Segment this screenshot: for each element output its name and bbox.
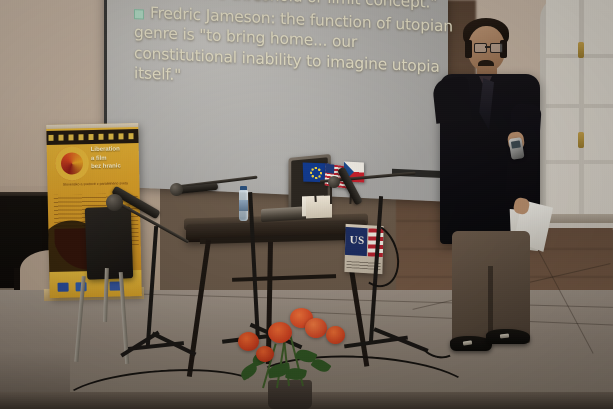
rose-3 [305, 318, 327, 338]
window-frame [540, 0, 613, 228]
window-mullion-h2 [546, 104, 613, 108]
rose-2 [268, 322, 292, 343]
rose-6 [256, 346, 274, 362]
bottle-label [239, 200, 248, 211]
chair-backrest[interactable] [85, 206, 133, 280]
window-mullion-vertical [579, 0, 584, 222]
banner-subtitle: Slovensko a svetové z paralelnéno sveta [57, 181, 133, 188]
film-strip-graphic [46, 129, 138, 145]
banner-sponsor-logo-1 [58, 283, 69, 292]
slide-text-block: denies law's threshold or limit concept.… [134, 0, 439, 98]
mic-head-3[interactable] [328, 176, 340, 188]
mic-head-2[interactable] [170, 183, 183, 196]
banner-title-line-3: bez hranic [91, 162, 137, 172]
flower-vase [268, 380, 312, 409]
mic-head-1[interactable] [106, 194, 123, 211]
floor-step-riser [0, 352, 70, 392]
rose-5 [326, 326, 345, 344]
banner-title: Liberation a film bez hranic [91, 145, 138, 172]
table-cross-brace [232, 274, 336, 282]
remote-screen [511, 140, 521, 148]
square-bullet-icon [134, 9, 144, 19]
window-latch-lower-icon[interactable] [578, 132, 584, 148]
speaker-person [430, 16, 550, 376]
glasses-bridge [485, 46, 490, 48]
sideburn-left [465, 40, 472, 58]
glasses-lens-right [490, 43, 503, 53]
glasses-lens-left [474, 43, 487, 53]
flag-stand-base [306, 196, 332, 219]
window-latch-upper-icon[interactable] [578, 42, 584, 58]
jacket-shoulder-left [432, 76, 472, 124]
window-mullion-h3 [546, 160, 613, 164]
banner-swirl-logo-icon [55, 146, 90, 181]
banner-top-rail [46, 123, 142, 129]
rose-4 [238, 332, 259, 351]
photo-scene: denies law's threshold or limit concept.… [0, 0, 613, 409]
